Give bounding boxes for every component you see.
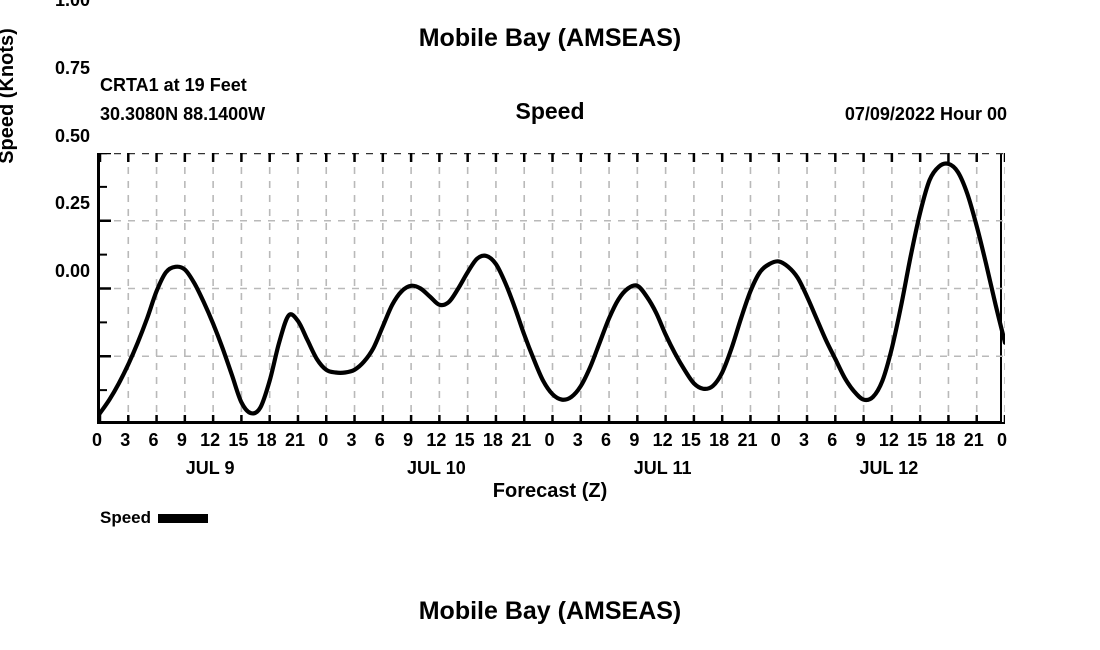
chart-legend: Speed <box>100 508 208 528</box>
x-tick-label: 9 <box>403 430 413 451</box>
x-tick-label: 3 <box>347 430 357 451</box>
x-tick-label: 3 <box>799 430 809 451</box>
x-tick-label: 6 <box>149 430 159 451</box>
x-tick-label: 0 <box>318 430 328 451</box>
x-tick-label: 3 <box>573 430 583 451</box>
x-tick-label: 15 <box>907 430 927 451</box>
x-axis-day-label: JUL 9 <box>186 458 235 479</box>
x-tick-label: 0 <box>771 430 781 451</box>
x-tick-label: 12 <box>653 430 673 451</box>
x-tick-label: 9 <box>856 430 866 451</box>
x-tick-label: 15 <box>681 430 701 451</box>
x-tick-label: 3 <box>120 430 130 451</box>
forecast-run-time: 07/09/2022 Hour 00 <box>845 104 1007 125</box>
legend-label-speed: Speed <box>100 508 151 528</box>
y-tick-label: 0.75 <box>20 59 90 77</box>
x-axis-day-label: JUL 12 <box>860 458 919 479</box>
x-tick-label: 6 <box>375 430 385 451</box>
y-axis-ticks: 0.000.250.500.751.00 <box>12 0 90 271</box>
x-tick-label: 12 <box>200 430 220 451</box>
x-tick-label: 15 <box>455 430 475 451</box>
y-tick-label: 0.25 <box>20 194 90 212</box>
x-tick-label: 18 <box>257 430 277 451</box>
plot-area <box>97 153 1002 424</box>
x-tick-label: 9 <box>629 430 639 451</box>
x-tick-label: 0 <box>544 430 554 451</box>
x-tick-label: 12 <box>426 430 446 451</box>
x-tick-label: 21 <box>511 430 531 451</box>
x-tick-label: 0 <box>92 430 102 451</box>
x-tick-label: 12 <box>879 430 899 451</box>
x-tick-label: 0 <box>997 430 1007 451</box>
x-axis-label: Forecast (Z) <box>0 480 1100 503</box>
x-axis-day-label: JUL 10 <box>407 458 466 479</box>
x-axis-ticks: 0369121518210369121518210369121518210369… <box>97 430 1002 456</box>
y-tick-label: 0.50 <box>20 127 90 145</box>
y-tick-label: 0.00 <box>20 262 90 280</box>
x-axis-day-label: JUL 11 <box>634 458 692 479</box>
x-tick-label: 21 <box>964 430 984 451</box>
station-info: CRTA1 at 19 Feet <box>100 75 247 96</box>
x-tick-label: 18 <box>935 430 955 451</box>
x-tick-label: 18 <box>483 430 503 451</box>
legend-swatch-speed <box>158 514 208 523</box>
chart-page: Mobile Bay (AMSEAS) CRTA1 at 19 Feet 30.… <box>0 0 1100 650</box>
x-tick-label: 21 <box>737 430 757 451</box>
x-tick-label: 9 <box>177 430 187 451</box>
x-tick-label: 18 <box>709 430 729 451</box>
page-title-bottom: Mobile Bay (AMSEAS) <box>0 597 1100 626</box>
x-tick-label: 6 <box>601 430 611 451</box>
x-tick-label: 21 <box>285 430 305 451</box>
y-tick-label: 1.00 <box>20 0 90 9</box>
page-title-top: Mobile Bay (AMSEAS) <box>0 24 1100 53</box>
x-tick-label: 15 <box>228 430 248 451</box>
speed-line-chart <box>100 153 1005 424</box>
x-tick-label: 6 <box>827 430 837 451</box>
